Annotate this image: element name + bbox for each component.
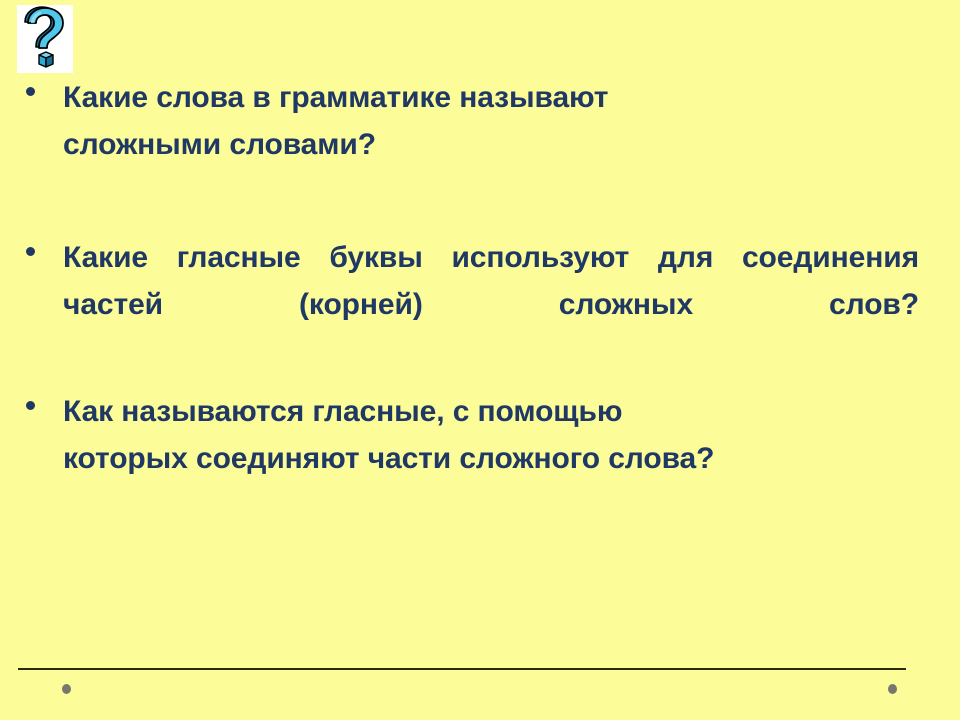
bullet-text-1: Какие слова в грамматике называют сложны… [63,74,783,168]
question-mark-icon [17,5,73,73]
bullet-marker-icon [26,87,35,96]
question-bullet-list: Какие слова в грамматике называют сложны… [0,74,960,482]
footer-divider [18,668,906,670]
bullet-marker-icon [26,401,35,410]
list-item: Какие гласные буквы используют для соеди… [0,234,960,328]
slide-canvas: Какие слова в грамматике называют сложны… [0,0,960,720]
bullet-text-3: Как называются гласные, с помощью которы… [63,388,919,482]
bullet-text-2: Какие гласные буквы используют для соеди… [63,234,919,328]
footer-dot-right [888,684,897,694]
bullet-marker-icon [26,247,35,256]
list-item: Как называются гласные, с помощью которы… [0,388,960,482]
footer-dot-left [62,684,71,694]
list-item: Какие слова в грамматике называют сложны… [0,74,960,168]
